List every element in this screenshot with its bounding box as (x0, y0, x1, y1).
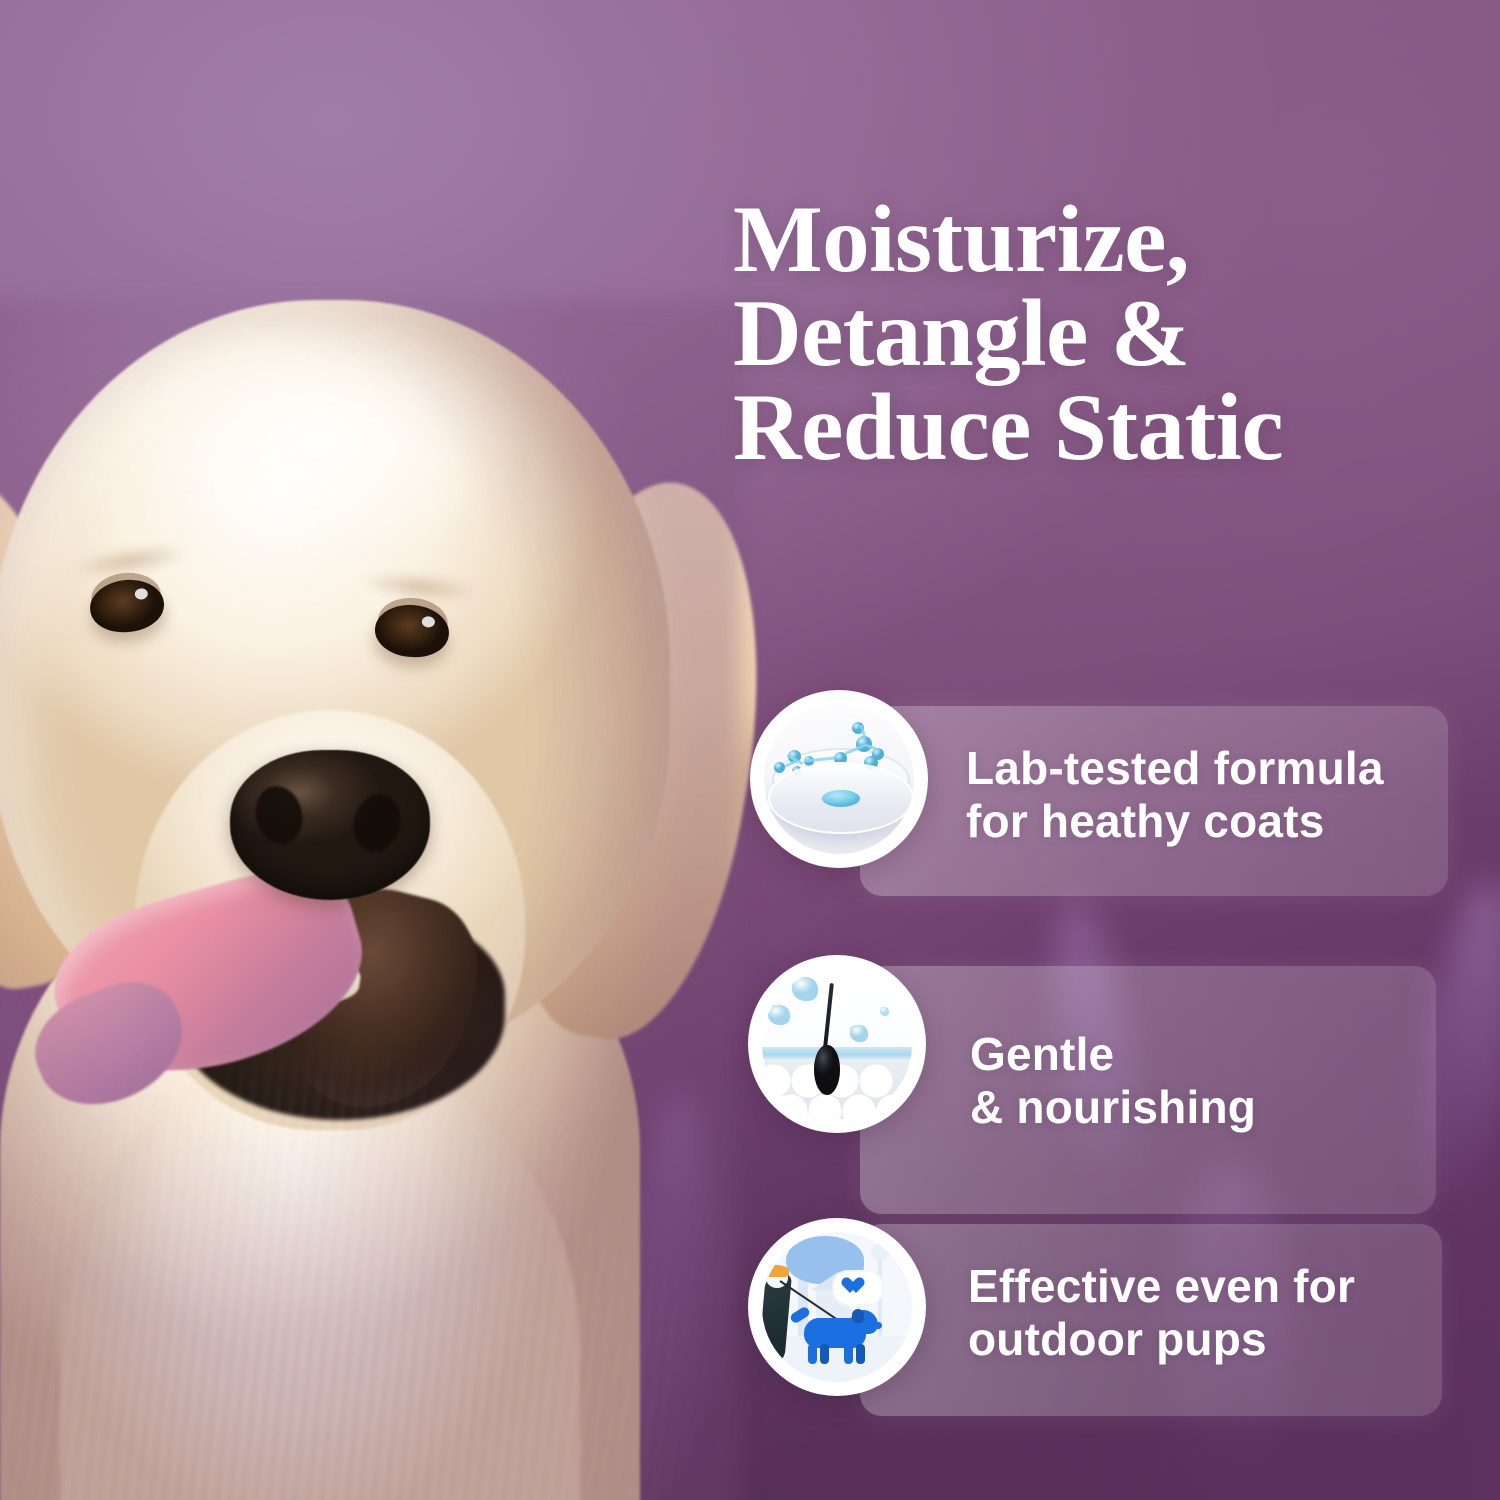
feature-card-gentle: Gentle & nourishing (860, 966, 1436, 1214)
dog-walking-outdoors-icon (748, 1218, 926, 1396)
feature-text: Effective even for outdoor pups (968, 1260, 1355, 1367)
feature-text: Gentle & nourishing (970, 1028, 1256, 1135)
feature-line-1: Lab-tested formula (966, 742, 1384, 795)
feature-line-2: for heathy coats (966, 795, 1384, 848)
hair-follicle-icon (748, 955, 926, 1133)
feature-line-2: & nourishing (970, 1081, 1256, 1134)
headline-line-2: Detangle & (733, 286, 1478, 380)
feature-text: Lab-tested formula for heathy coats (966, 742, 1384, 849)
dog-photo (0, 150, 760, 1500)
headline-line-1: Moisturize, (733, 192, 1478, 286)
feature-card-outdoor: Effective even for outdoor pups (860, 1224, 1442, 1416)
feature-card-lab-tested: Lab-tested formula for heathy coats (860, 706, 1448, 896)
feature-line-2: outdoor pups (968, 1313, 1355, 1366)
page-title: Moisturize, Detangle & Reduce Static (733, 192, 1478, 474)
petri-dish-molecule-icon (750, 690, 928, 868)
headline-line-3: Reduce Static (733, 380, 1478, 474)
feature-line-1: Effective even for (968, 1260, 1355, 1313)
feature-line-1: Gentle (970, 1028, 1256, 1081)
product-feature-banner: Moisturize, Detangle & Reduce Static Lab… (0, 0, 1500, 1500)
dog-edge-blend (0, 300, 740, 1500)
